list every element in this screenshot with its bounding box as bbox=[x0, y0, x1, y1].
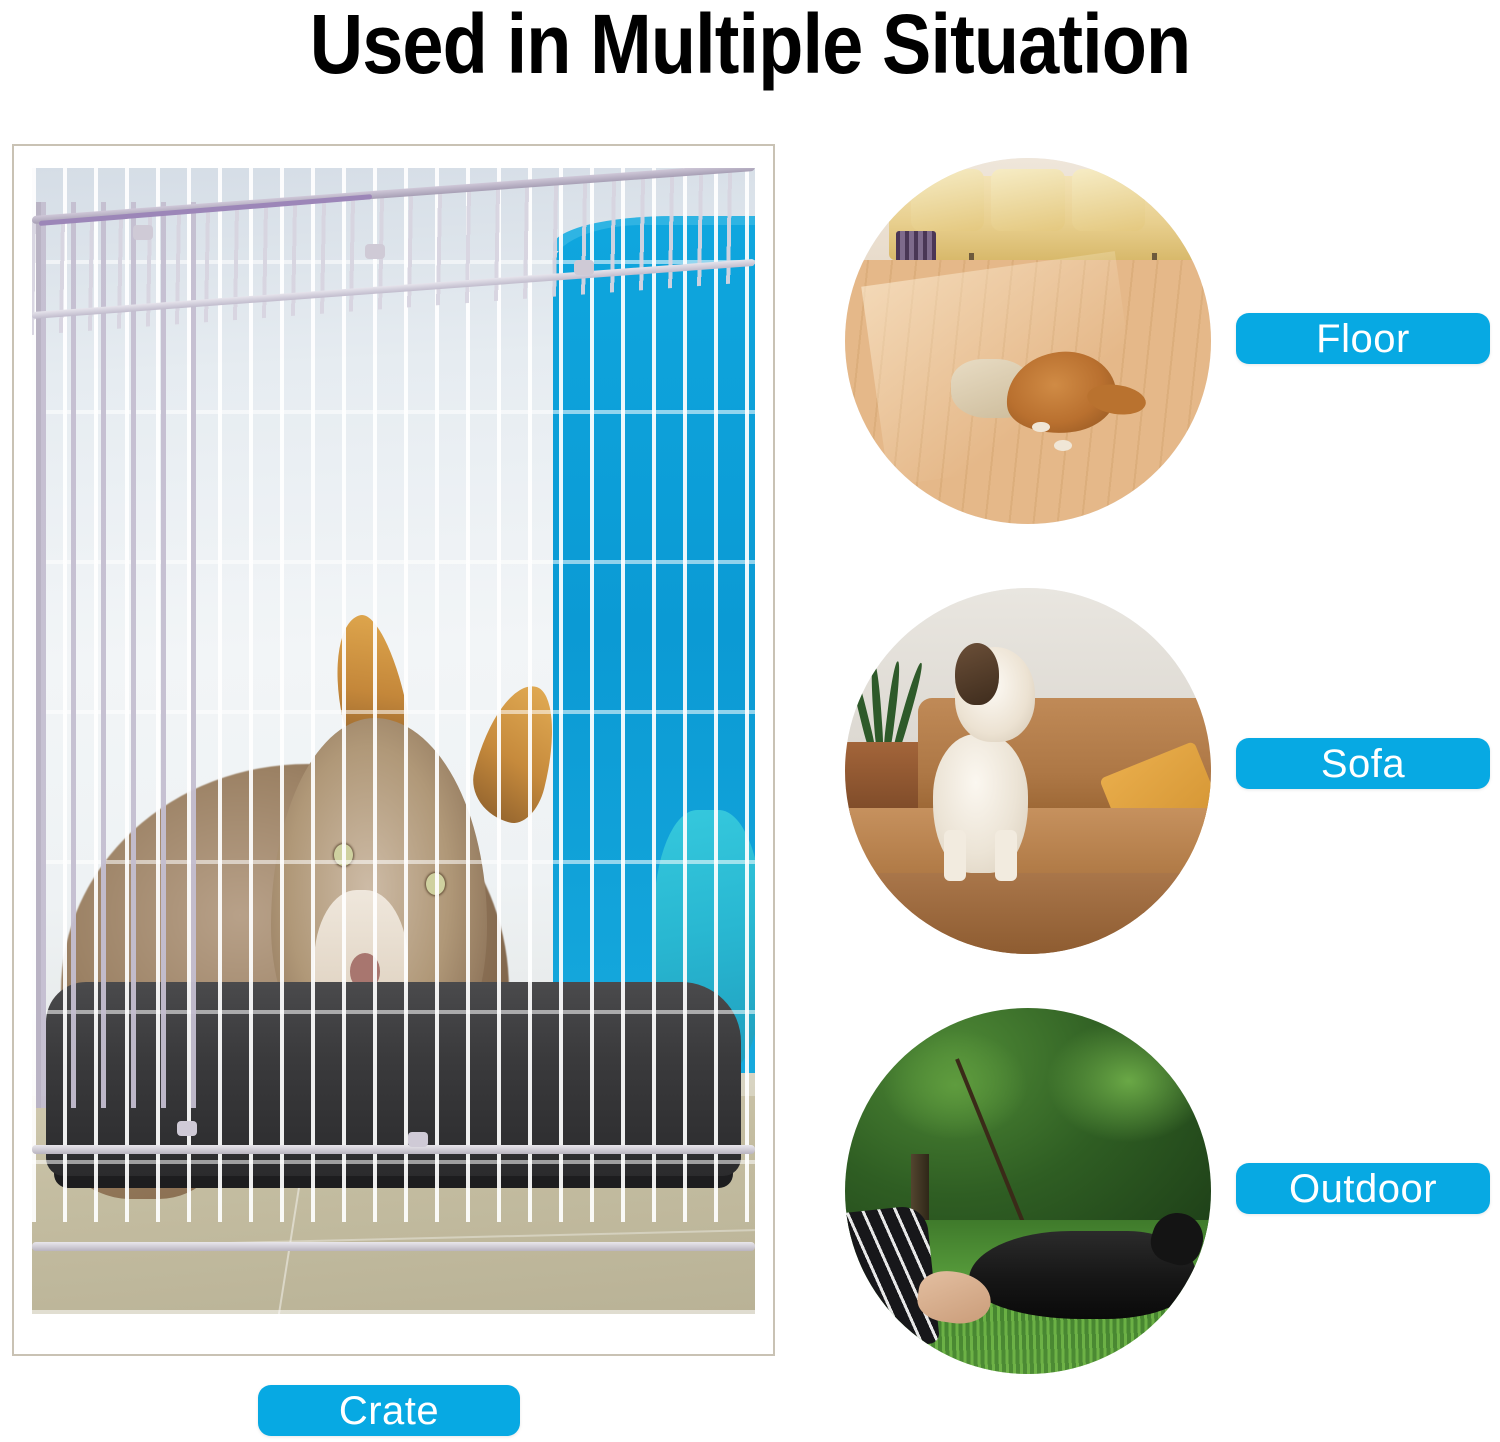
page-title: Used in Multiple Situation bbox=[90, 0, 1410, 93]
floor-scene-cushion bbox=[991, 169, 1064, 231]
crate-bottom-rail-upper bbox=[32, 1145, 755, 1154]
outdoor-scene-foliage bbox=[1046, 1019, 1211, 1143]
floor-scene-cushion bbox=[1072, 169, 1145, 231]
crate-door-panel bbox=[36, 202, 215, 1107]
crate-bottom-rail-lower bbox=[32, 1242, 755, 1251]
situation-image-sofa bbox=[845, 588, 1211, 954]
outdoor-scene-foliage bbox=[882, 1030, 1028, 1140]
crate-photo bbox=[32, 168, 755, 1314]
crate-clip bbox=[408, 1132, 428, 1147]
crate-clip bbox=[177, 1121, 197, 1136]
situation-image-floor bbox=[845, 158, 1211, 524]
situation-image-outdoor bbox=[845, 1008, 1211, 1374]
crate-clip bbox=[365, 244, 385, 259]
badge-floor[interactable]: Floor bbox=[1236, 313, 1490, 364]
crate-photo-frame bbox=[12, 144, 775, 1356]
sofa-scene-dog-curls bbox=[955, 643, 999, 705]
badge-crate[interactable]: Crate bbox=[258, 1385, 520, 1436]
crate-clip bbox=[574, 260, 594, 275]
sofa-scene-dog-leg bbox=[995, 830, 1017, 881]
sofa-scene-seat-front bbox=[845, 873, 1211, 954]
crate-clip bbox=[133, 225, 153, 240]
sofa-scene-dog-leg bbox=[944, 830, 966, 881]
badge-sofa[interactable]: Sofa bbox=[1236, 738, 1490, 789]
floor-scene-cushion bbox=[911, 169, 984, 231]
floor-scene-dog-paw bbox=[1054, 440, 1072, 451]
badge-outdoor[interactable]: Outdoor bbox=[1236, 1163, 1490, 1214]
